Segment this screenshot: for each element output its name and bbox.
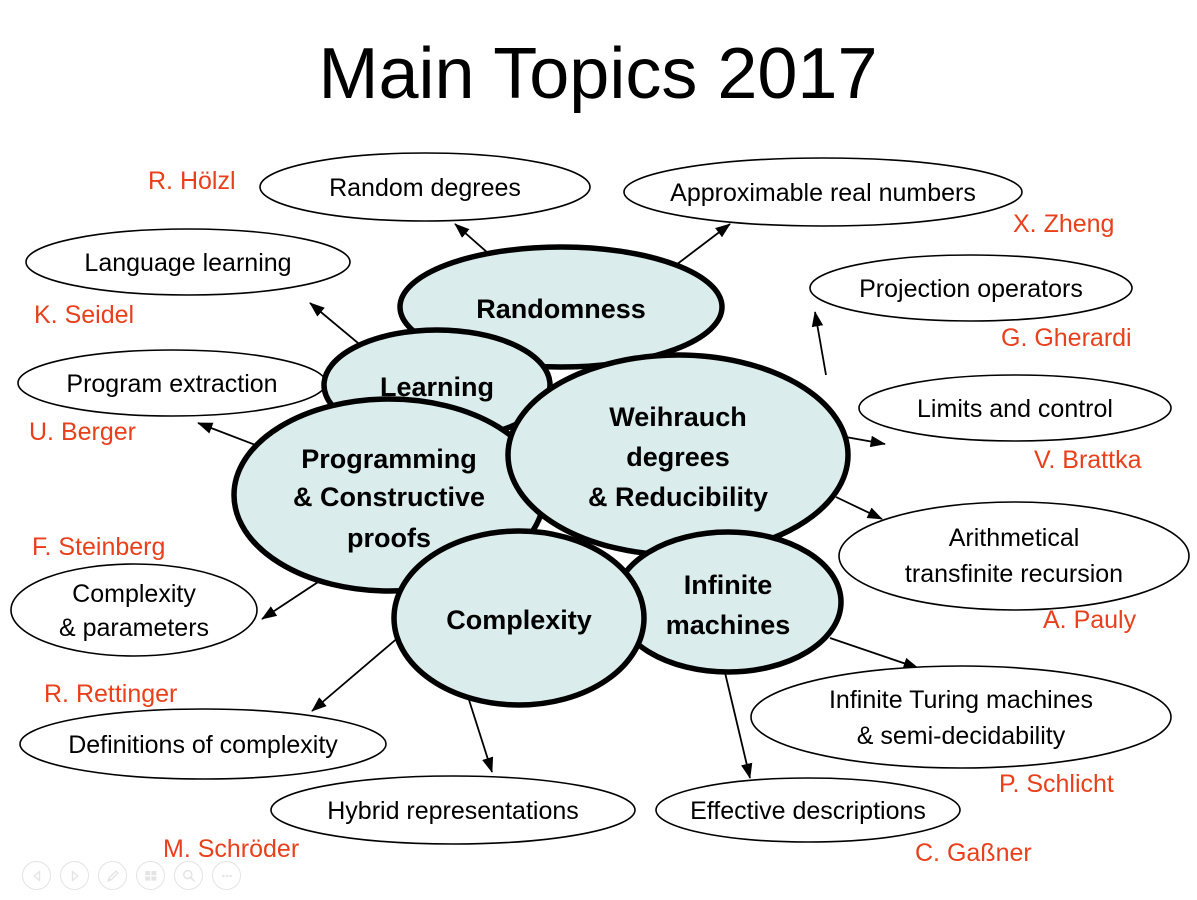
leaf-label-language-learning: Language learning (84, 249, 291, 277)
leaf-node-limits-and-control[interactable]: Limits and control (859, 375, 1171, 441)
core-label-programming-line3: proofs (347, 523, 431, 553)
core-label-complexity: Complexity (446, 605, 592, 635)
next-icon (68, 869, 82, 883)
leaf-node-random-degrees[interactable]: Random degrees (260, 153, 590, 221)
leaf-label-complexity-params-line2: & parameters (59, 614, 209, 642)
pen-icon (105, 868, 121, 884)
person-label-r-holzl: R. Hölzl (148, 167, 236, 195)
person-label-g-gherardi: G. Gherardi (1001, 324, 1132, 352)
leaf-node-complexity-params[interactable]: Complexity & parameters (11, 564, 257, 656)
page-title: Main Topics 2017 (318, 34, 877, 114)
core-node-infinite-machines[interactable]: Infinite machines (615, 532, 841, 672)
core-label-programming-line2: & Constructive (293, 482, 485, 512)
leaf-label-projection-operators: Projection operators (859, 275, 1083, 303)
person-label-v-brattka: V. Brattka (1034, 446, 1142, 474)
person-label-x-zheng: X. Zheng (1013, 210, 1114, 238)
previous-icon (30, 869, 44, 883)
leaf-ellipse-infinite-turing[interactable] (751, 666, 1171, 768)
core-label-programming-line1: Programming (301, 444, 477, 474)
core-label-weihrauch-line3: & Reducibility (588, 482, 768, 512)
pen-tool-button[interactable] (98, 861, 127, 890)
leaf-node-language-learning[interactable]: Language learning (26, 229, 350, 295)
presentation-slide: Main Topics 2017 Random degre (0, 0, 1197, 900)
leaf-label-approximable-reals: Approximable real numbers (670, 179, 976, 207)
zoom-slide-button[interactable] (174, 861, 203, 890)
leaf-label-infinite-turing-line2: & semi-decidability (857, 722, 1066, 750)
more-options-button[interactable] (212, 861, 241, 890)
leaf-node-program-extraction[interactable]: Program extraction (18, 350, 326, 416)
person-label-u-berger: U. Berger (29, 418, 136, 446)
leaf-label-effective-descriptions: Effective descriptions (690, 797, 926, 825)
core-label-randomness: Randomness (476, 294, 646, 324)
leaf-ellipse-complexity-params[interactable] (11, 564, 257, 656)
leaf-node-effective-descriptions[interactable]: Effective descriptions (656, 778, 960, 842)
person-label-p-schlicht: P. Schlicht (999, 770, 1114, 798)
leaf-node-infinite-turing[interactable]: Infinite Turing machines & semi-decidabi… (751, 666, 1171, 768)
leaf-label-limits-and-control: Limits and control (917, 395, 1113, 423)
all-slides-grid-button[interactable] (136, 861, 165, 890)
arrow-to-effective-descriptions (722, 660, 750, 778)
grid-icon (143, 868, 159, 884)
leaf-label-arithmetical-atr-line1: Arithmetical (949, 524, 1080, 552)
magnifier-icon (181, 868, 197, 884)
previous-slide-button[interactable] (22, 861, 51, 890)
core-label-infinite-machines-line1: Infinite (684, 570, 773, 600)
arrow-to-definitions-complexity (312, 636, 400, 711)
leaf-node-projection-operators[interactable]: Projection operators (810, 255, 1132, 321)
topics-diagram: Main Topics 2017 Random degre (0, 0, 1197, 900)
person-label-m-schroder: M. Schröder (163, 835, 299, 863)
leaf-label-complexity-params-line1: Complexity (72, 580, 196, 608)
more-options-icon (219, 868, 235, 884)
leaf-label-program-extraction: Program extraction (66, 370, 277, 398)
leaf-ellipse-arithmetical-atr[interactable] (839, 502, 1189, 610)
core-node-complexity[interactable]: Complexity (394, 531, 644, 705)
person-label-a-pauly: A. Pauly (1043, 606, 1137, 634)
arrow-to-projection-operators (815, 312, 826, 375)
core-node-weihrauch[interactable]: Weihrauch degrees & Reducibility (508, 355, 848, 555)
core-label-infinite-machines-line2: machines (666, 610, 791, 640)
presentation-toolbar (22, 861, 241, 890)
next-slide-button[interactable] (60, 861, 89, 890)
core-label-weihrauch-line2: degrees (626, 442, 730, 472)
person-label-f-steinberg: F. Steinberg (32, 533, 165, 561)
person-label-c-gassner: C. Gaßner (915, 839, 1032, 867)
leaf-node-definitions-complexity[interactable]: Definitions of complexity (20, 709, 386, 779)
leaf-label-arithmetical-atr-line2: transfinite recursion (905, 560, 1123, 588)
core-ellipse-infinite-machines[interactable] (615, 532, 841, 672)
leaf-node-arithmetical-atr[interactable]: Arithmetical transfinite recursion (839, 502, 1189, 610)
person-label-k-seidel: K. Seidel (34, 301, 134, 329)
core-label-weihrauch-line1: Weihrauch (609, 402, 747, 432)
arrow-to-approximable-reals (672, 224, 730, 268)
arrow-to-arithmetical-atr (836, 497, 882, 519)
leaf-label-random-degrees: Random degrees (329, 174, 521, 202)
arrow-to-infinite-turing (830, 638, 918, 668)
person-label-r-rettinger: R. Rettinger (44, 680, 177, 708)
leaf-label-hybrid-representations: Hybrid representations (327, 797, 579, 825)
leaf-node-approximable-reals[interactable]: Approximable real numbers (624, 158, 1022, 226)
leaf-label-infinite-turing-line1: Infinite Turing machines (829, 686, 1093, 714)
leaf-node-hybrid-representations[interactable]: Hybrid representations (271, 776, 635, 844)
leaf-label-definitions-complexity: Definitions of complexity (68, 731, 338, 759)
